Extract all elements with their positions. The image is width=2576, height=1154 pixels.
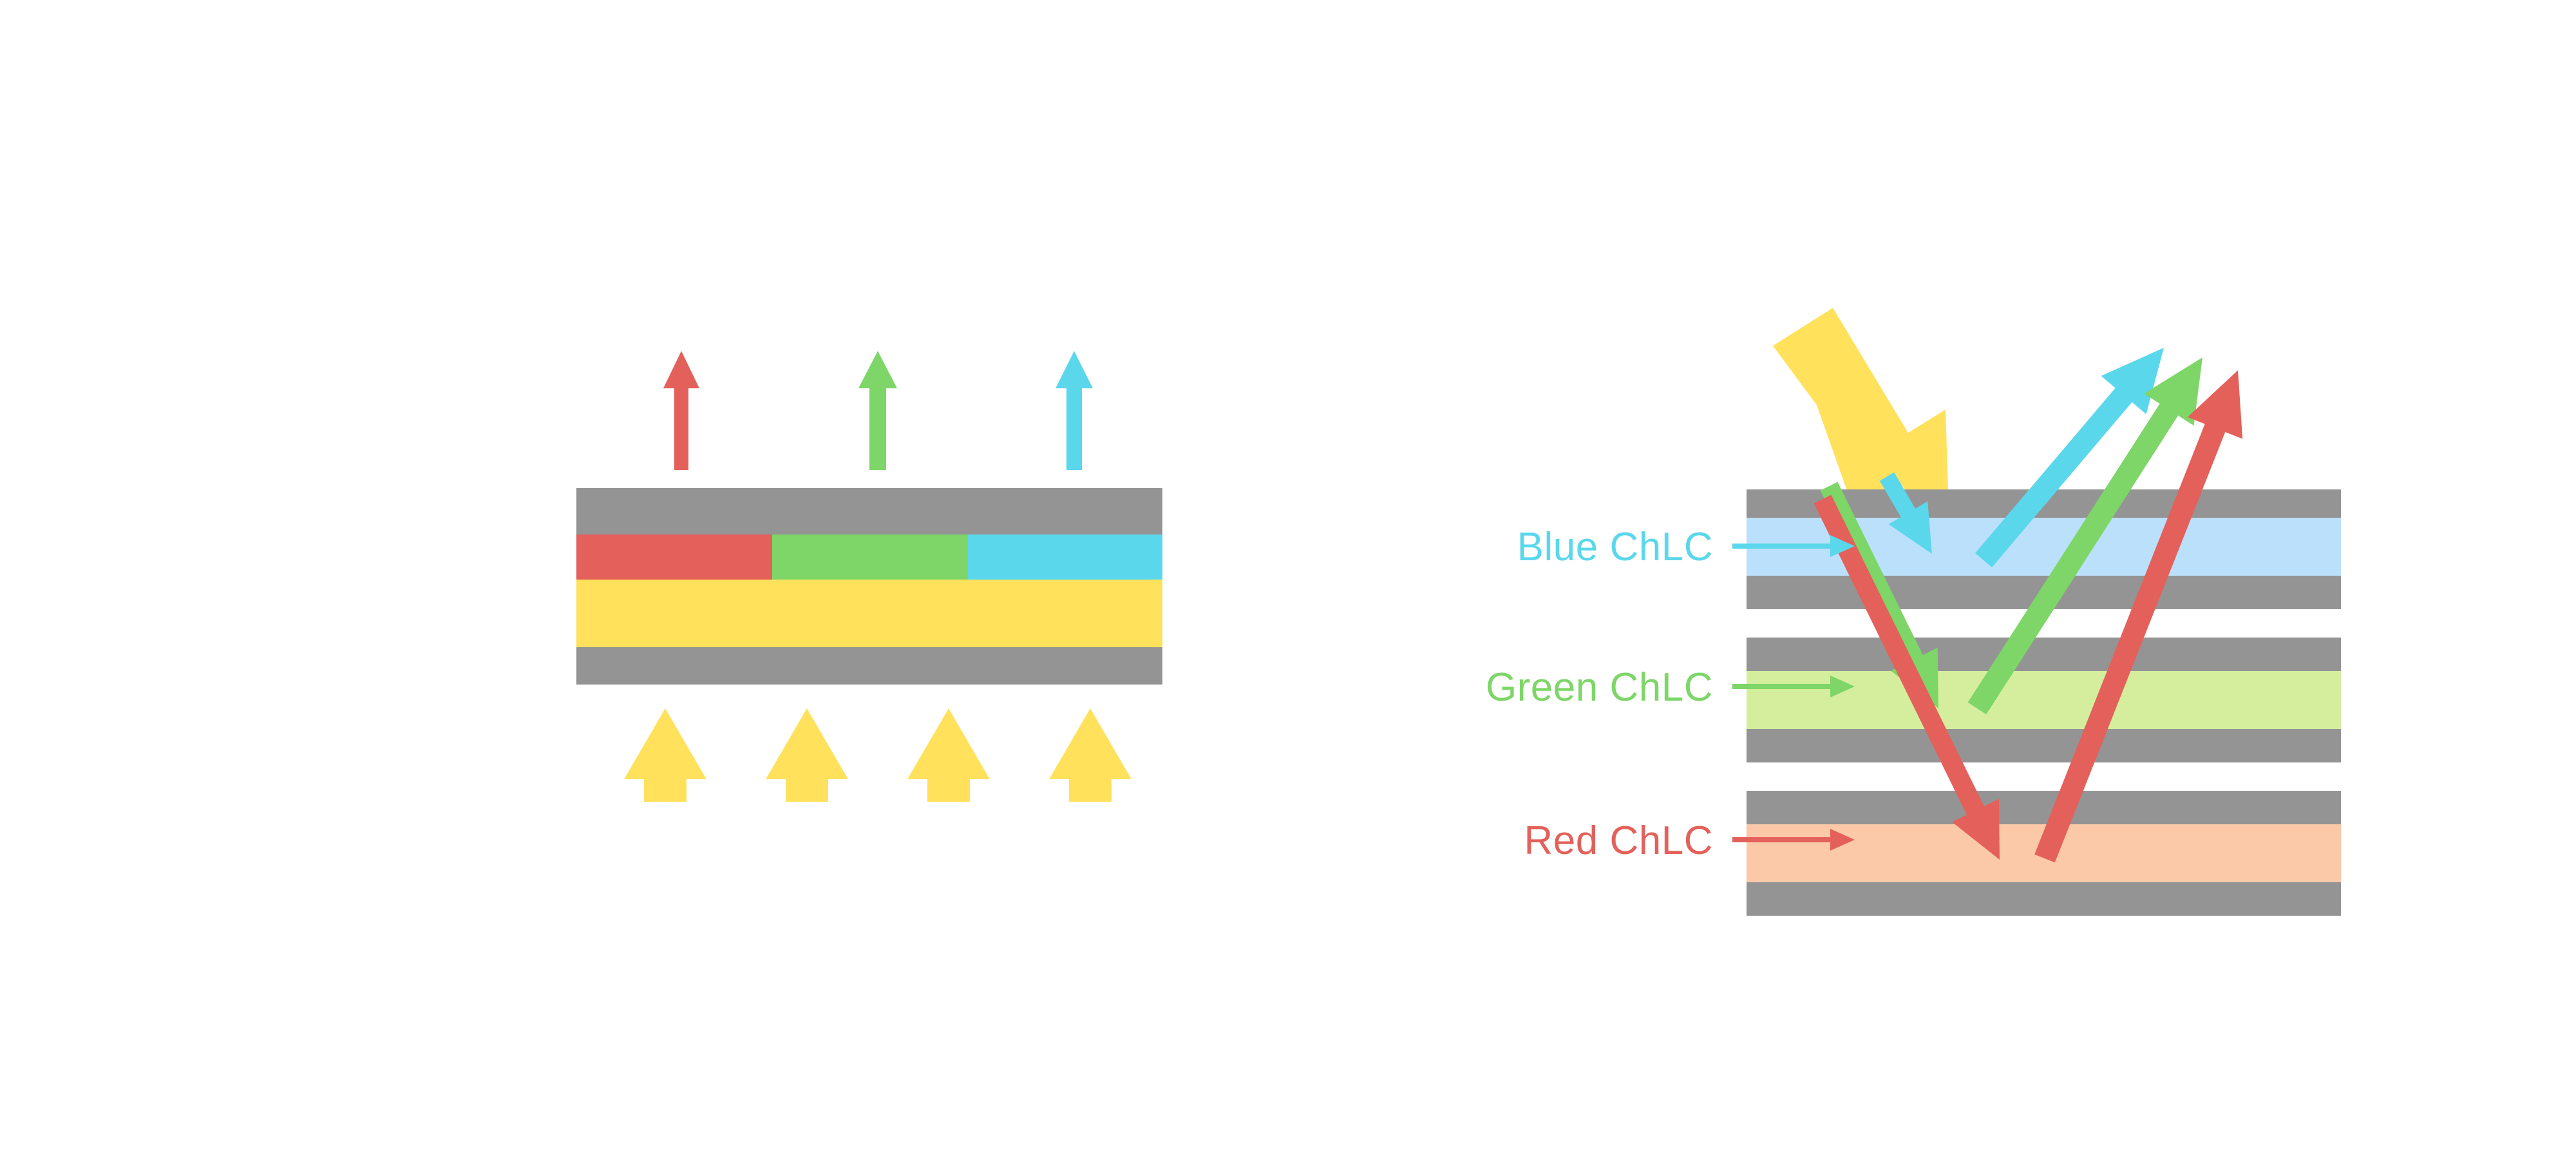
emitted-rays-group <box>663 351 1093 470</box>
red-filter-segment <box>576 534 772 580</box>
left-panel-group <box>576 351 1162 802</box>
left-stack-group <box>576 488 1162 685</box>
chlc-display-diagram: Blue ChLC Green ChLC Red ChLC <box>0 0 2576 1154</box>
backlight-arrow-2-icon <box>766 708 848 802</box>
backlight-arrow-4-icon <box>1049 708 1132 802</box>
label-blue-chlc-text: Blue ChLC <box>1517 525 1713 569</box>
emitted-ray-cyan-icon <box>1056 351 1093 470</box>
bottom-electrode-band <box>576 647 1162 685</box>
emitted-ray-red-icon <box>663 351 699 470</box>
green-cell-bottom-electrode <box>1747 729 2341 762</box>
top-electrode-band <box>576 488 1162 534</box>
green-filter-segment <box>772 534 968 580</box>
blue-filter-segment <box>968 534 1162 580</box>
backlight-arrows-group <box>624 708 1132 802</box>
red-cell-bottom-electrode <box>1747 882 2341 916</box>
red-cell-top-electrode <box>1747 791 2341 824</box>
backlight-arrow-3-icon <box>907 708 990 802</box>
backlight-arrow-1-icon <box>624 708 706 802</box>
yellow-backlight-band <box>576 580 1162 647</box>
label-green-chlc-text: Green ChLC <box>1486 665 1713 710</box>
diagram-canvas: Blue ChLC Green ChLC Red ChLC <box>0 0 2576 1154</box>
right-panel-group: Blue ChLC Green ChLC Red ChLC <box>1486 308 2341 916</box>
green-cell-top-electrode <box>1747 638 2341 671</box>
emitted-ray-green-icon <box>858 351 897 470</box>
label-red-chlc-text: Red ChLC <box>1524 818 1713 863</box>
